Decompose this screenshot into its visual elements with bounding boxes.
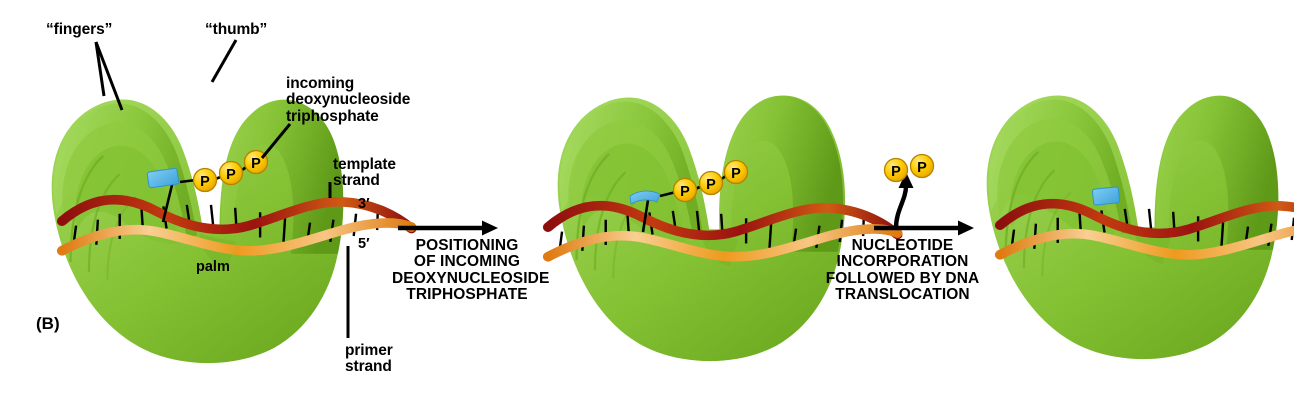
label-3-prime: 3′ — [358, 197, 370, 212]
phosphate-group-1: P — [674, 179, 697, 202]
figure-canvas: P P P — [0, 0, 1294, 400]
phosphate-group-2: P — [220, 162, 243, 185]
panel-3-incorporated-nucleotide — [1092, 187, 1120, 206]
label-palm: palm — [196, 260, 230, 275]
label-primer-strand: primer strand — [345, 343, 393, 376]
nucleotide-base-icon — [1092, 187, 1120, 206]
phosphate-glyph: P — [251, 156, 261, 172]
phosphate-glyph: P — [200, 174, 210, 190]
transition-1-text: POSITIONING OF INCOMING DEOXYNUCLEOSIDE … — [392, 238, 542, 304]
label-incoming-dntp: incoming deoxynucleoside triphosphate — [286, 76, 410, 125]
pyrophosphate-byproduct: P P — [885, 155, 934, 182]
phosphate-group-3: P — [725, 161, 748, 184]
transition-2-arrow — [874, 172, 974, 236]
phosphate-group-1: P — [194, 169, 217, 192]
diagram-svg: P P P — [0, 0, 1294, 400]
phosphate-group-1: P — [885, 159, 908, 182]
label-5-prime: 5′ — [358, 237, 370, 252]
phosphate-glyph: P — [226, 167, 236, 183]
phosphate-glyph: P — [891, 164, 901, 180]
label-template-strand: template strand — [333, 157, 396, 190]
phosphate-glyph: P — [917, 160, 927, 176]
phosphate-group-2: P — [700, 172, 723, 195]
phosphate-glyph: P — [680, 184, 690, 200]
panel-2-polymerase — [558, 96, 845, 361]
phosphate-group-2: P — [911, 155, 934, 178]
transition-2-text: NUCLEOTIDE INCORPORATION FOLLOWED BY DNA… — [820, 238, 985, 304]
nucleotide-base-icon — [147, 168, 179, 188]
label-thumb: “thumb” — [205, 22, 267, 38]
label-fingers: “fingers” — [46, 22, 112, 38]
phosphate-glyph: P — [731, 166, 741, 182]
panel-label-b: (B) — [36, 315, 60, 333]
phosphate-glyph: P — [706, 177, 716, 193]
